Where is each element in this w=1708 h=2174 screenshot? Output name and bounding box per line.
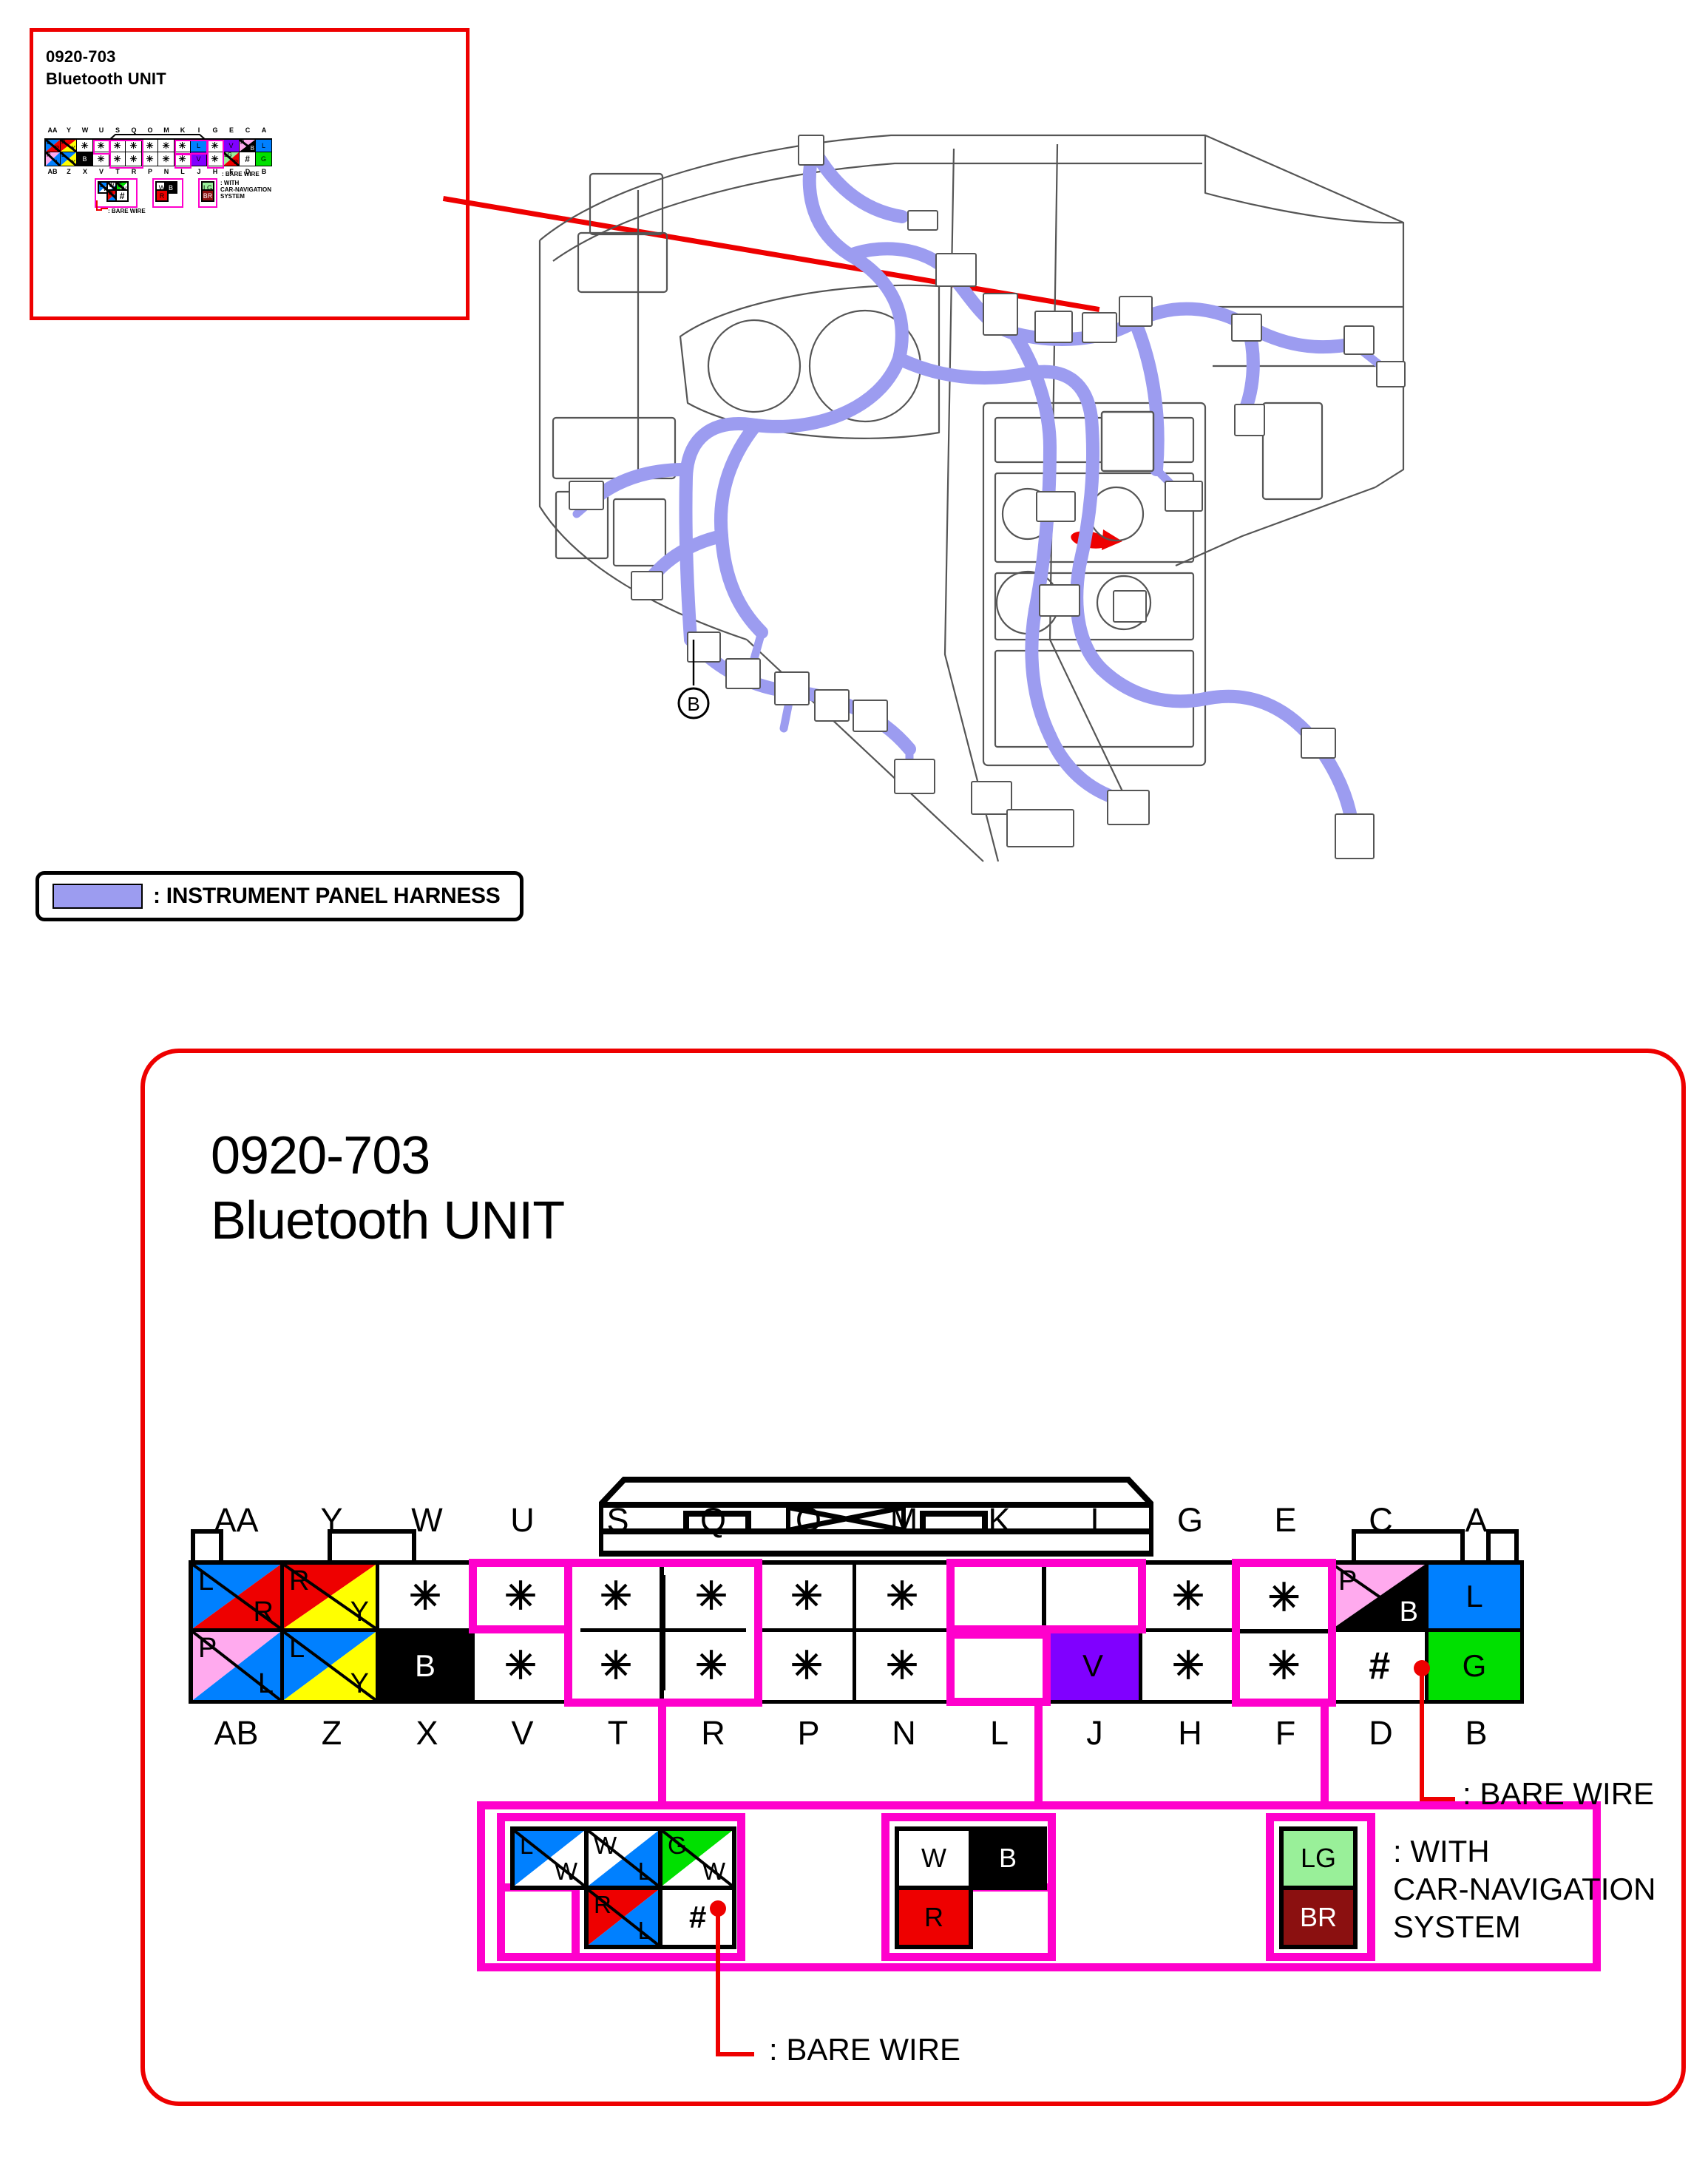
pin-cell-m: ✳ — [856, 1560, 952, 1632]
sub-connector-1-notch-edge — [572, 1883, 580, 1961]
pin-unused-mark: ✳ — [761, 1632, 853, 1700]
pin-color-code-upper: L — [289, 1634, 305, 1662]
pin-dual-color-fill: PL — [193, 1632, 280, 1700]
pin-dual-color-fill: LR — [193, 1565, 280, 1628]
pin-label-bottom-f: F — [1238, 1714, 1333, 1758]
pin-dual-color-fill: LR — [46, 140, 60, 152]
pin-dual-color-fill: LY — [284, 1632, 376, 1700]
pin-dual-color-fill: RY — [284, 1565, 376, 1628]
pin-color-code-upper: L — [61, 152, 64, 158]
pin-notch-y — [328, 1529, 416, 1563]
pin-label-bottom-z: Z — [284, 1714, 379, 1758]
pin-cell-f: LGR — [223, 152, 240, 166]
pin-label-bottom-r: R — [665, 1714, 761, 1758]
sub-pin-color-code-lower: W — [555, 1859, 577, 1883]
pin-bare-wire-mark: # — [1333, 1632, 1425, 1700]
pin-label-top-s: S — [570, 1501, 665, 1543]
pin-bare-wire-mark: # — [240, 152, 255, 166]
pin-unused-mark: ✳ — [761, 1565, 853, 1628]
pin-color-code: V — [1047, 1648, 1139, 1684]
pin-unused-mark: ✳ — [475, 1632, 566, 1700]
harness-color-swatch — [52, 884, 143, 909]
sub-pin-cell: BR — [1279, 1886, 1358, 1949]
pin-cell-aa: LR — [44, 138, 61, 152]
pin-cell-h: ✳ — [1142, 1632, 1238, 1704]
inset-hl-tr — [109, 140, 143, 169]
pin-cell-n: ✳ — [856, 1632, 952, 1704]
pin-color-fill: V — [1047, 1632, 1139, 1700]
main-component-name: Bluetooth UNIT — [211, 1189, 564, 1254]
pin-color-code-lower: Y — [72, 160, 75, 166]
sub-pin-color-fill: R — [899, 1890, 969, 1945]
sub-pin-cell: R — [895, 1886, 973, 1949]
pin-label-top-i: I — [1047, 1501, 1142, 1543]
pin-color-code-lower: L — [258, 1670, 274, 1698]
sub-pin-cell: LW — [510, 1826, 589, 1890]
pin-color-code-upper: P — [1338, 1567, 1357, 1595]
connector-bottom-pin-labels: ABZXVTRPNLJHFDB — [189, 1714, 1534, 1758]
pin-color-code-upper: R — [289, 1567, 309, 1595]
sub-pin-color-code-lower: W — [702, 1859, 725, 1883]
sub-pin-color-code: BR — [1284, 1902, 1353, 1933]
highlight-group-u-top — [469, 1559, 572, 1633]
pin-cell-b: G — [1429, 1632, 1524, 1704]
leader-magenta-t — [658, 1699, 666, 1809]
pin-cell-n: ✳ — [158, 152, 174, 166]
pin-unused-mark: ✳ — [158, 152, 174, 166]
sub-pin-color-code-upper: W — [594, 1833, 617, 1858]
pin-color-code-upper: P — [198, 1634, 217, 1662]
inset-mini-diagram: AA Y W U S Q O M K I G E C A LRRY✳✳✳✳✳✳✳… — [44, 137, 444, 226]
pin-label-top-o: O — [761, 1501, 856, 1543]
inset-component-name: Bluetooth UNIT — [46, 68, 342, 90]
pin-color-fill: G — [256, 152, 271, 166]
pin-cell-a: L — [256, 138, 272, 152]
sub-pin-dual-color-fill: RL — [589, 1890, 658, 1945]
pin-cell-g: ✳ — [1142, 1560, 1238, 1632]
inset-hl-h — [207, 140, 224, 169]
sub-pin-dual-color-fill: LW — [515, 1831, 584, 1886]
dashboard-callout-b: B — [687, 693, 699, 715]
sub-pin-cell: GW — [658, 1826, 736, 1890]
pin-unused-mark: ✳ — [379, 1565, 471, 1628]
pin-unused-mark: ✳ — [856, 1632, 948, 1700]
pin-cell-p: ✳ — [142, 152, 158, 166]
pin-cell-y: RY — [284, 1560, 379, 1632]
leader-magenta-h — [1321, 1699, 1329, 1809]
pin-cell-a: L — [1429, 1560, 1524, 1632]
pin-label-bottom-n: N — [856, 1714, 952, 1758]
pin-unused-mark: ✳ — [158, 140, 174, 152]
pin-label-bottom-t: T — [570, 1714, 665, 1758]
sub-pin-color-code-upper: R — [594, 1892, 611, 1917]
pin-color-code-lower: B — [251, 146, 254, 152]
pin-color-code: V — [223, 142, 239, 149]
pin-color-code: B — [77, 155, 92, 163]
pin-color-code-upper: L — [198, 1567, 214, 1595]
inset-bare-wire-note-right: : BARE WIRE — [222, 171, 260, 177]
pin-cell-x: B — [77, 152, 93, 166]
pin-color-code: V — [191, 155, 206, 163]
pin-label-top-u: U — [475, 1501, 570, 1543]
sub-pin-color-fill: B — [973, 1831, 1043, 1886]
sub-pin-cell: W — [895, 1826, 973, 1890]
highlight-n-inner-divider — [1042, 1567, 1046, 1625]
pin-color-fill: L — [1429, 1565, 1520, 1628]
pin-label-top-e: E — [1238, 1501, 1333, 1543]
pin-notch-a — [1486, 1529, 1519, 1563]
pin-color-fill: L — [256, 140, 271, 152]
highlight-group-tr-divider — [660, 1567, 664, 1699]
pin-cell-ab: PL — [44, 152, 61, 166]
sub-pin-cell: WL — [584, 1826, 662, 1890]
pin-color-code: G — [256, 155, 271, 163]
pin-dual-color-fill: RY — [61, 140, 76, 152]
inset-hl-n — [174, 140, 208, 155]
pin-label-top-k: K — [952, 1501, 1047, 1543]
sub-pin-color-code-lower: L — [638, 1918, 651, 1943]
pin-unused-mark: ✳ — [1142, 1632, 1234, 1700]
pin-cell-w: ✳ — [379, 1560, 475, 1632]
pin-label-top-q: Q — [665, 1501, 761, 1543]
pin-unused-mark: ✳ — [142, 140, 157, 152]
pin-label-bottom-p: P — [761, 1714, 856, 1758]
sub-pin-color-fill: W — [899, 1831, 969, 1886]
inset-sub-connector-2-frame — [152, 178, 183, 208]
pin-color-code-upper: P — [240, 140, 244, 146]
highlight-n-join — [955, 1625, 1043, 1639]
pin-unused-mark: ✳ — [1142, 1565, 1234, 1628]
sub-pin-color-code: B — [973, 1843, 1043, 1874]
pin-color-fill: V — [223, 140, 239, 152]
pin-cell-c: PB — [240, 138, 256, 152]
harness-legend: : INSTRUMENT PANEL HARNESS — [35, 871, 523, 921]
pin-cell-z: LY — [61, 152, 77, 166]
main-title: 0920-703 Bluetooth UNIT — [211, 1124, 564, 1254]
pin-color-code-lower: Y — [350, 1670, 369, 1698]
main-part-number: 0920-703 — [211, 1124, 564, 1189]
inset-bare-wire-note-bottom: : BARE WIRE — [108, 208, 146, 214]
sub-pin-dual-color-fill: WL — [589, 1831, 658, 1886]
highlight-n-lower-mask — [955, 1639, 1043, 1698]
pin-label-bottom-j: J — [1047, 1714, 1142, 1758]
pin-label-bottom-x: X — [379, 1714, 475, 1758]
pin-notch-e-c — [1352, 1529, 1465, 1563]
pin-dual-color-fill: PL — [46, 152, 60, 166]
pin-color-code-lower: B — [1400, 1598, 1418, 1626]
pin-color-code-lower: Y — [72, 146, 75, 152]
pin-color-code: B — [379, 1648, 471, 1684]
sub-pin-color-code-upper: G — [668, 1833, 687, 1858]
pin-color-code-lower: R — [234, 160, 238, 166]
pin-color-code-lower: R — [55, 146, 59, 152]
bare-wire-label-right: : BARE WIRE — [1463, 1776, 1654, 1812]
sub-pin-color-code: LG — [1284, 1843, 1353, 1874]
pin-label-top-g: G — [1142, 1501, 1238, 1543]
pin-label-bottom-ab: AB — [189, 1714, 284, 1758]
pin-cell-p: ✳ — [761, 1632, 856, 1704]
bare-wire-label-bottom: : BARE WIRE — [769, 2032, 960, 2068]
bare-wire-line-d-horizontal — [1420, 1797, 1455, 1801]
pin-unused-mark: ✳ — [142, 152, 157, 166]
pin-dual-color-fill: LGR — [223, 152, 239, 166]
inset-bottom-row: PLLYB✳✳✳✳✳✳V✳LGR#G — [44, 152, 272, 166]
pin-color-code-upper: P — [47, 152, 50, 158]
pin-cell-d: # — [240, 152, 256, 166]
sub-connector-1-notch-mask — [497, 1892, 580, 1961]
sub-pin-color-fill: LG — [1284, 1831, 1353, 1886]
pin-h-top-mark: ✳ — [1240, 1567, 1328, 1629]
pin-color-fill: B — [379, 1632, 471, 1700]
inset-car-nav-note: : WITH CAR-NAVIGATION SYSTEM — [220, 180, 271, 200]
pin-dual-color-fill: PB — [240, 140, 255, 152]
dashboard-harness-illustration: B — [466, 122, 1420, 876]
sub-pin-cell: B — [969, 1826, 1047, 1890]
sub-pin-cell: LG — [1279, 1826, 1358, 1890]
bare-wire-line-sub1-horizontal — [716, 2052, 754, 2056]
inset-hl-n2 — [174, 154, 192, 169]
pin-dual-color-fill: PB — [1333, 1565, 1425, 1628]
pin-cell-x: B — [379, 1632, 475, 1704]
pin-h-bottom-mark: ✳ — [1240, 1633, 1328, 1699]
pin-cell-ab: PL — [189, 1632, 284, 1704]
pin-cell-y: RY — [61, 138, 77, 152]
inset-sub-connector-3-frame — [198, 178, 217, 208]
pin-color-code-lower: R — [254, 1598, 274, 1626]
pin-cell-b: G — [256, 152, 272, 166]
inset-part-number: 0920-703 — [46, 46, 342, 68]
pin-cell-o: ✳ — [761, 1560, 856, 1632]
sub-pin-bare-wire-mark: # — [662, 1890, 732, 1945]
harness-legend-label: : INSTRUMENT PANEL HARNESS — [153, 884, 500, 909]
pin-cell-z: LY — [284, 1632, 379, 1704]
sub-pin-color-code-upper: L — [520, 1833, 533, 1858]
pin-unused-mark: ✳ — [77, 140, 92, 152]
pin-cell-j: V — [1047, 1632, 1142, 1704]
highlight-n-inner-mask — [955, 1567, 1138, 1625]
pin-color-code-lower: Y — [350, 1598, 369, 1626]
pin-cell-aa: LR — [189, 1560, 284, 1632]
inset-pin-grid: LRRY✳✳✳✳✳✳✳L✳VPBLPLLYB✳✳✳✳✳✳V✳LGR#G — [44, 138, 272, 166]
pin-notch-aa — [191, 1529, 223, 1563]
pin-color-code-upper: R — [61, 140, 66, 146]
pin-color-code-upper: LG — [224, 152, 232, 158]
pin-cell-c: PB — [1333, 1560, 1429, 1632]
sub-pin-color-fill: BR — [1284, 1890, 1353, 1945]
inset-top-row: LRRY✳✳✳✳✳✳✳L✳VPBL — [44, 138, 272, 152]
pin-label-bottom-l: L — [952, 1714, 1047, 1758]
sub-pin-cell: # — [658, 1886, 736, 1949]
pin-label-bottom-d: D — [1333, 1714, 1429, 1758]
pin-color-fill: G — [1429, 1632, 1520, 1700]
sub-pin-dual-color-fill: GW — [662, 1831, 732, 1886]
sub-pin-color-code: R — [899, 1902, 969, 1933]
pin-color-code-lower: L — [56, 160, 59, 166]
bare-wire-line-sub1-vertical — [716, 1909, 720, 2056]
pin-color-code: L — [256, 142, 271, 149]
car-navigation-note: : WITH CAR-NAVIGATION SYSTEM — [1393, 1832, 1656, 1946]
pin-label-bottom-h: H — [1142, 1714, 1238, 1758]
sub-pin-color-code-lower: L — [638, 1859, 651, 1883]
pin-color-fill: B — [77, 152, 92, 166]
pin-color-code: G — [1429, 1648, 1520, 1684]
bare-wire-line-d-vertical — [1420, 1668, 1424, 1801]
pin-cell-m: ✳ — [158, 138, 174, 152]
pin-cell-e: V — [223, 138, 240, 152]
inset-title: 0920-703 Bluetooth UNIT — [46, 46, 342, 89]
inset-hl-u — [93, 140, 110, 155]
pin-cell-o: ✳ — [142, 138, 158, 152]
pin-unused-mark: ✳ — [856, 1565, 948, 1628]
pin-label-top-m: M — [856, 1501, 952, 1543]
pin-color-code: L — [1429, 1579, 1520, 1614]
pin-cell-v: ✳ — [475, 1632, 570, 1704]
pin-color-code-upper: L — [47, 140, 50, 146]
pin-label-bottom-v: V — [475, 1714, 570, 1758]
inset-top-pin-labels: AA Y W U S Q O M K I G E C A — [44, 126, 288, 134]
pin-cell-w: ✳ — [77, 138, 93, 152]
leader-magenta-n — [1034, 1699, 1043, 1809]
inset-bare-wire-leader-tail — [101, 208, 108, 209]
pin-label-bottom-b: B — [1429, 1714, 1524, 1758]
sub-pin-color-code: W — [899, 1843, 969, 1874]
pin-dual-color-fill: LY — [61, 152, 76, 166]
sub-pin-cell: RL — [584, 1886, 662, 1949]
